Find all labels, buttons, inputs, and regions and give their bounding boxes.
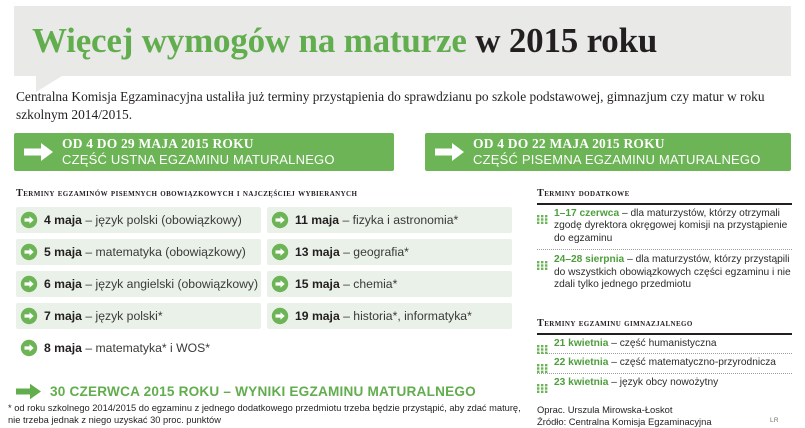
list-item: 7 maja – język polski* — [16, 303, 261, 329]
exam-date: 24–28 sierpnia — [554, 254, 624, 265]
list-item: 6 maja – język angielski (obowiązkowy) — [16, 271, 261, 297]
exam-description: – część matematyczno-przyrodnicza — [611, 357, 776, 368]
page-title: Więcej wymogów na maturze w 2015 roku — [32, 14, 657, 68]
exam-subject: – fizyka i astronomia* — [342, 213, 458, 227]
exam-date: 11 maja — [295, 213, 339, 227]
exam-subject: – język angielski (obowiązkowy) — [85, 277, 258, 291]
exam-subject: – matematyka (obowiązkowy) — [85, 245, 246, 259]
grid-squares-icon — [537, 341, 548, 350]
divider — [537, 249, 792, 250]
infographic-root: Więcej wymogów na maturze w 2015 roku Ce… — [0, 0, 805, 428]
exam-date: 22 kwietnia — [554, 357, 608, 368]
exam-subject: – język polski (obowiązkowy) — [85, 213, 241, 227]
footnote: * od roku szkolnego 2014/2015 do egzamin… — [8, 403, 528, 426]
circle-arrow-icon — [20, 339, 38, 357]
list-item-text: 19 maja – historia*, informatyka* — [295, 303, 472, 329]
circle-arrow-icon — [271, 307, 289, 325]
list-item: 4 maja – język polski (obowiązkowy) — [16, 207, 261, 233]
list-item-text: 24–28 sierpnia – dla maturzystów, którzy… — [554, 254, 792, 291]
list-item: 22 kwietnia – część matematyczno-przyrod… — [537, 357, 792, 369]
divider — [537, 203, 792, 205]
list-item-text: 7 maja – język polski* — [44, 303, 163, 329]
list-item-text: 4 maja – język polski (obowiązkowy) — [44, 207, 242, 233]
exam-date: 4 maja — [44, 213, 82, 227]
list-item-text: 13 maja – geografia* — [295, 239, 409, 265]
exam-date: 13 maja — [295, 245, 340, 259]
exam-subject: – geografia* — [343, 245, 409, 259]
circle-arrow-icon — [20, 307, 38, 325]
grid-squares-icon — [537, 380, 548, 389]
header-bubble: Więcej wymogów na maturze w 2015 roku — [14, 6, 791, 76]
source-author: Oprac. Urszula Mirowska-Łoskot — [537, 404, 712, 416]
banner-subtitle: CZĘŚĆ USTNA EGZAMINU MATURALNEGO — [62, 152, 335, 167]
exam-date: 21 kwietnia — [554, 338, 608, 349]
list-item: 15 maja – chemia* — [267, 271, 512, 297]
exam-subject: – chemia* — [343, 277, 397, 291]
exam-description: – język obcy nowożytny — [611, 377, 718, 388]
list-item-text: 22 kwietnia – część matematyczno-przyrod… — [554, 357, 792, 369]
exam-date: 6 maja — [44, 277, 82, 291]
list-item: 11 maja – fizyka i astronomia* — [267, 207, 512, 233]
list-item: 23 kwietnia – język obcy nowożytny — [537, 377, 792, 389]
right-section-heading-gimnazjum: TERMINY EGZAMINU GIMNAZJALNEGO — [537, 318, 693, 329]
additional-dates-list: 1–17 czerwca – dla maturzystów, którzy o… — [537, 208, 792, 291]
exam-list-column-a: 4 maja – język polski (obowiązkowy) 5 ma… — [16, 207, 261, 367]
circle-arrow-icon — [20, 243, 38, 261]
exam-date: 1–17 czerwca — [554, 208, 619, 219]
page-title-dark: w 2015 roku — [475, 21, 657, 60]
list-item-text: 21 kwietnia – część humanistyczna — [554, 338, 792, 350]
list-item-text: 1–17 czerwca – dla maturzystów, którzy o… — [554, 208, 792, 245]
exam-description: – część humanistyczna — [611, 338, 716, 349]
circle-arrow-icon — [20, 211, 38, 229]
circle-arrow-icon — [271, 211, 289, 229]
source-origin: Źródło: Centralna Komisja Egzaminacyjna — [537, 416, 712, 428]
exam-date: 23 kwietnia — [554, 377, 608, 388]
exam-subject: – historia*, informatyka* — [343, 309, 472, 323]
circle-arrow-icon — [20, 275, 38, 293]
grid-squares-icon — [537, 211, 548, 220]
list-item-text: 11 maja – fizyka i astronomia* — [295, 207, 458, 233]
list-item: 1–17 czerwca – dla maturzystów, którzy o… — [537, 208, 792, 245]
circle-arrow-icon — [271, 243, 289, 261]
divider — [537, 333, 792, 335]
exam-date: 19 maja — [295, 309, 340, 323]
exam-list-column-b: 11 maja – fizyka i astronomia* 13 maja –… — [267, 207, 512, 335]
list-item: 21 kwietnia – część humanistyczna — [537, 338, 792, 350]
arrow-right-icon — [435, 142, 465, 162]
designer-credit: LR — [770, 417, 779, 424]
divider — [537, 353, 792, 354]
intro-paragraph: Centralna Komisja Egzaminacyjna ustaliła… — [16, 88, 791, 124]
list-item: 19 maja – historia*, informatyka* — [267, 303, 512, 329]
banner-written-exam: OD 4 DO 22 MAJA 2015 ROKU CZĘŚĆ PISEMNA … — [425, 133, 791, 171]
list-item-text: 23 kwietnia – język obcy nowożytny — [554, 377, 792, 389]
list-item: 13 maja – geografia* — [267, 239, 512, 265]
banner-subtitle: CZĘŚĆ PISEMNA EGZAMINU MATURALNEGO — [473, 152, 761, 167]
list-item: 5 maja – matematyka (obowiązkowy) — [16, 239, 261, 265]
arrow-right-icon — [24, 142, 54, 162]
exam-subject: – matematyka* i WOS* — [85, 341, 210, 355]
grid-squares-icon — [537, 257, 548, 266]
right-section-heading-additional: TERMINY DODATKOWE — [537, 188, 630, 199]
exam-date: 5 maja — [44, 245, 82, 259]
exam-date: 8 maja — [44, 341, 82, 355]
gimnazjum-dates-list: 21 kwietnia – część humanistyczna 22 kwi… — [537, 338, 792, 389]
banner-date-range: OD 4 DO 22 MAJA 2015 ROKU — [473, 136, 665, 152]
exam-date: 7 maja — [44, 309, 82, 323]
banner-oral-exam: OD 4 DO 29 MAJA 2015 ROKU CZĘŚĆ USTNA EG… — [14, 133, 394, 171]
divider — [537, 373, 792, 374]
list-item-text: 8 maja – matematyka* i WOS* — [44, 335, 210, 361]
banner-date-range: OD 4 DO 29 MAJA 2015 ROKU — [62, 136, 254, 152]
grid-squares-icon — [537, 360, 548, 369]
results-text: 30 CZERWCA 2015 ROKU – WYNIKI EGZAMINU M… — [50, 381, 476, 402]
circle-arrow-icon — [271, 275, 289, 293]
page-title-green: Więcej wymogów na maturze — [32, 21, 467, 60]
exam-date: 15 maja — [295, 277, 340, 291]
list-item: 8 maja – matematyka* i WOS* — [16, 335, 261, 361]
source-credits: Oprac. Urszula Mirowska-Łoskot Źródło: C… — [537, 404, 712, 427]
arrow-right-icon — [16, 383, 42, 400]
list-item: 24–28 sierpnia – dla maturzystów, którzy… — [537, 254, 792, 291]
left-section-heading: TERMINY EGZAMINÓW PISEMNYCH OBOWIĄZKOWYC… — [16, 188, 357, 199]
list-item-text: 5 maja – matematyka (obowiązkowy) — [44, 239, 246, 265]
list-item-text: 6 maja – język angielski (obowiązkowy) — [44, 271, 258, 297]
exam-subject: – język polski* — [85, 309, 162, 323]
list-item-text: 15 maja – chemia* — [295, 271, 397, 297]
